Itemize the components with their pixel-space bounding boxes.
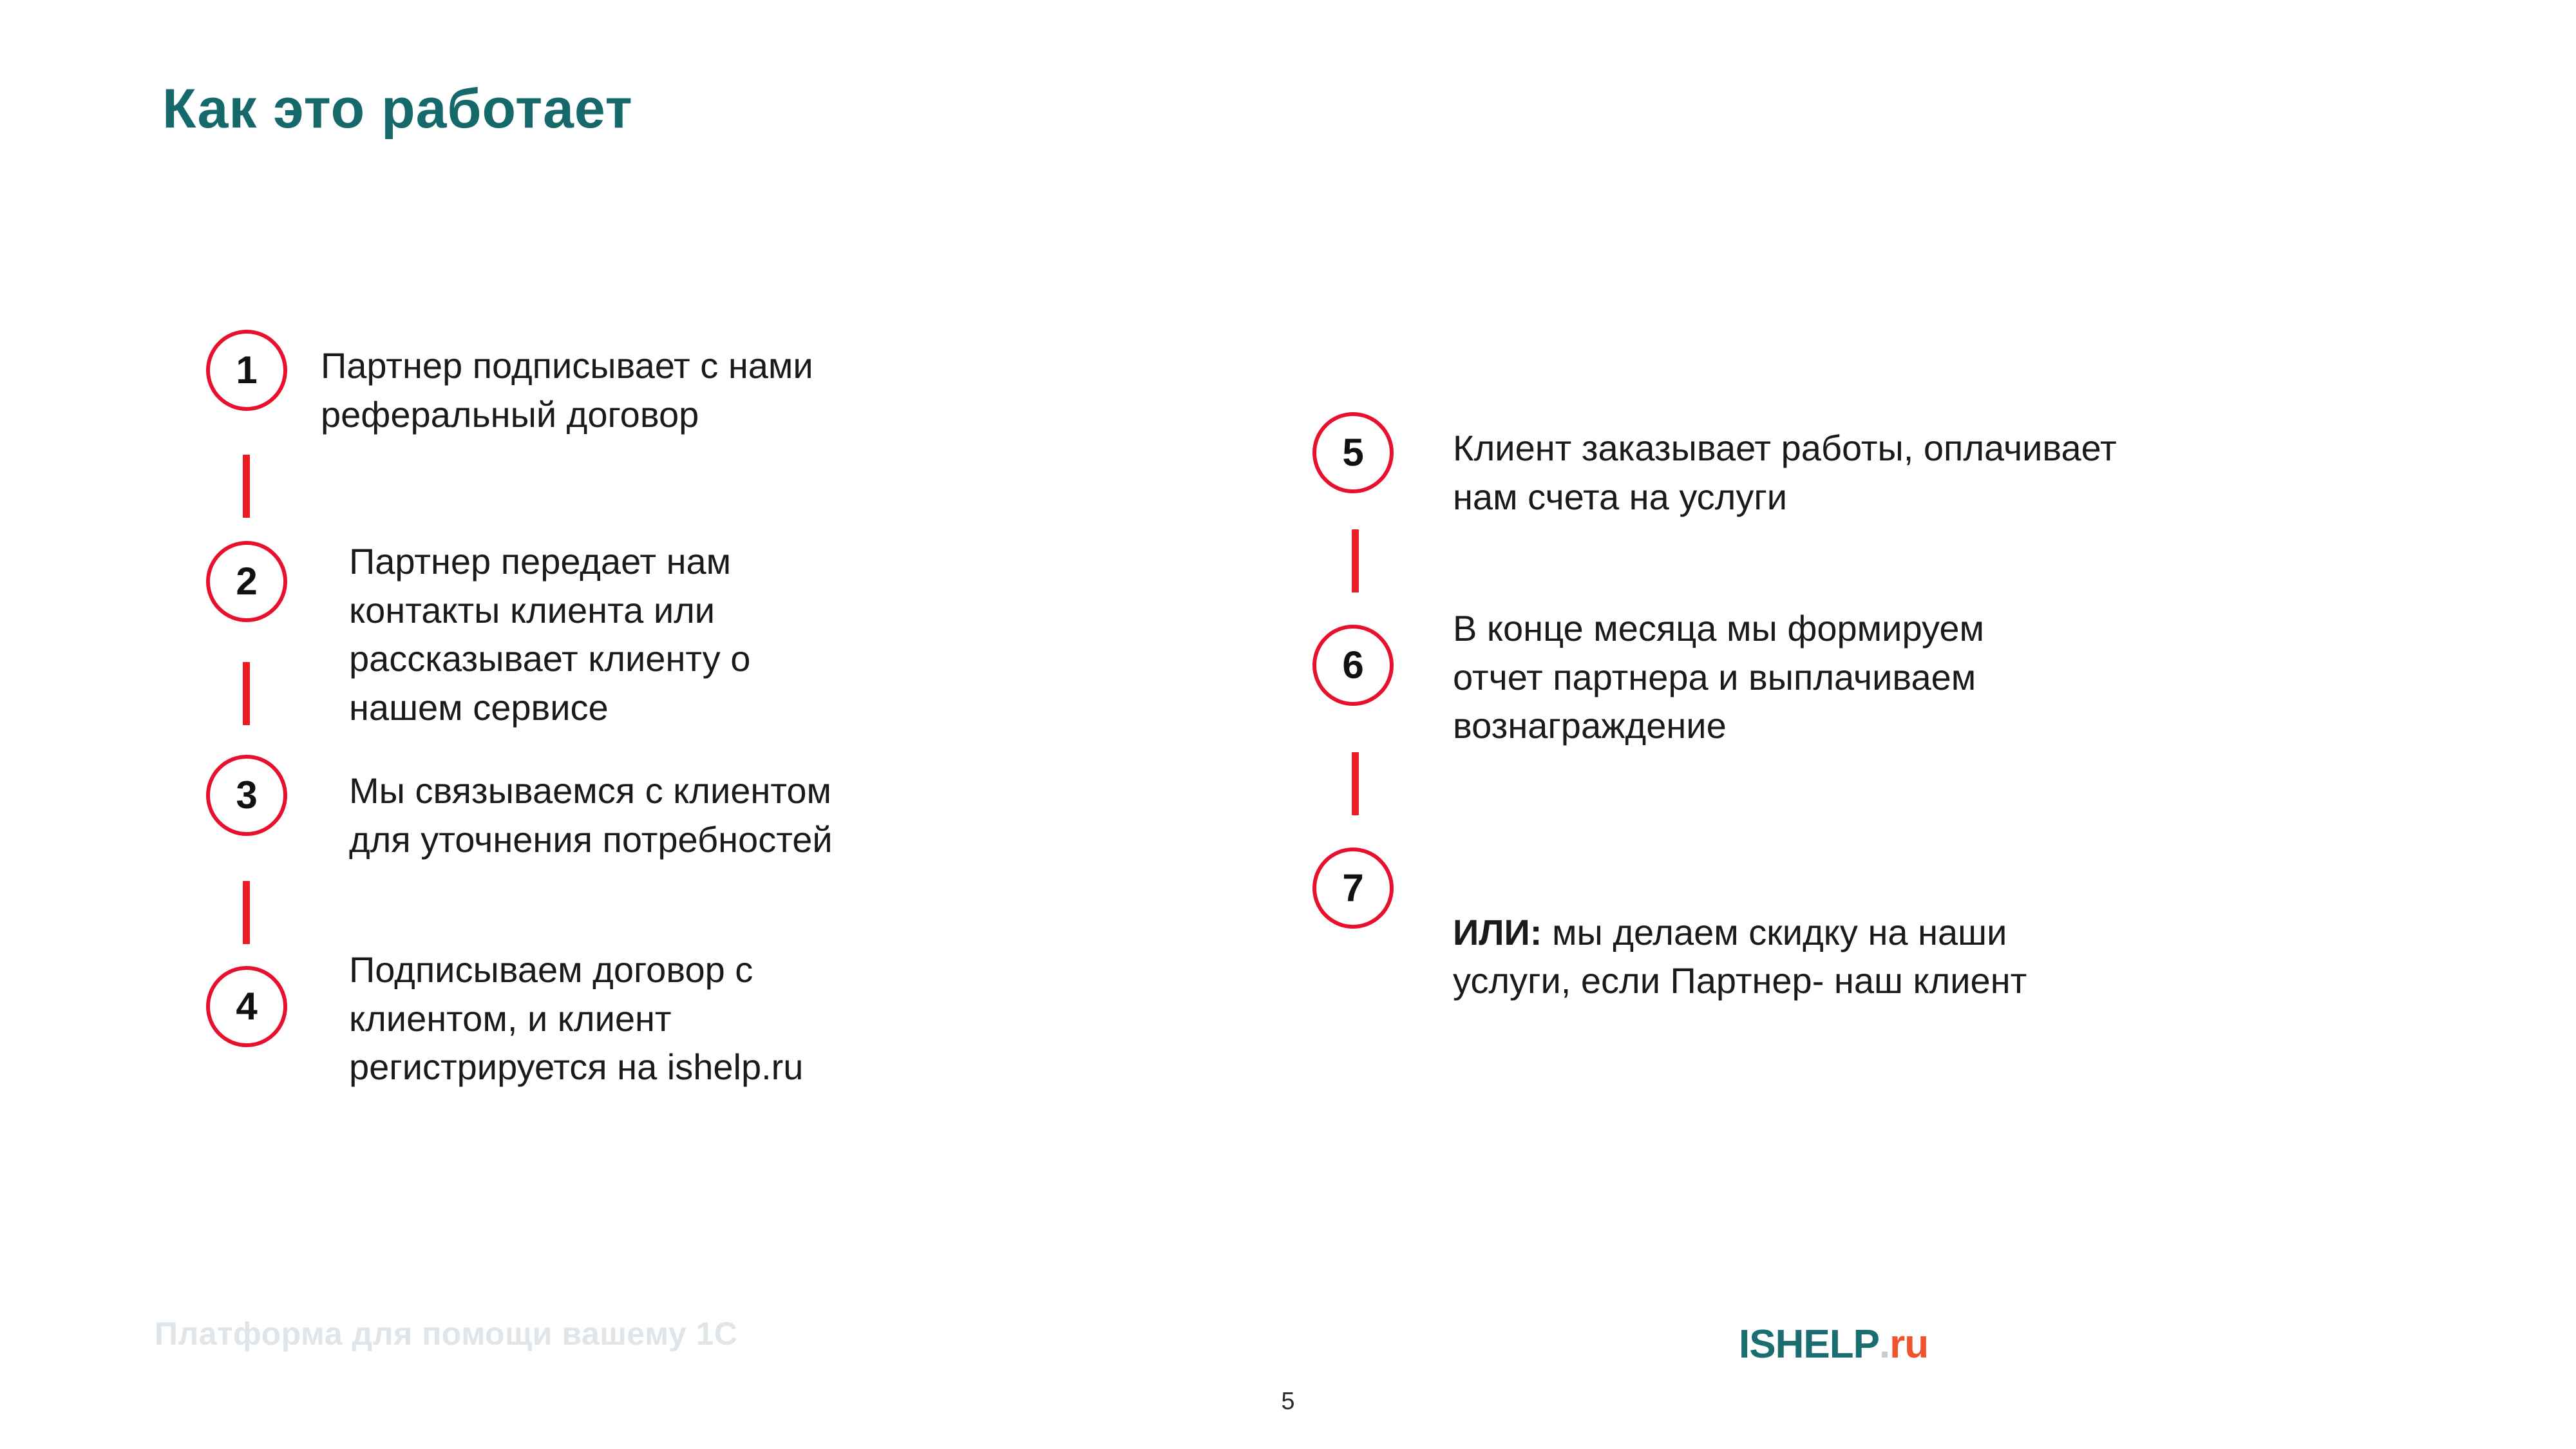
step-number-6: 6 <box>1342 646 1363 685</box>
step-text-6: В конце месяца мы формируем отчет партне… <box>1453 604 1984 750</box>
slide-root: Как это работает 1 Партнер подписывает с… <box>0 0 2576 1449</box>
step-number-7: 7 <box>1342 869 1363 907</box>
step-text-1: Партнер подписывает с нами реферальный д… <box>321 341 813 439</box>
step-badge-4: 4 <box>206 966 287 1047</box>
step-item-4: 4 Подписываем договор с клиентом, и клие… <box>206 966 803 1092</box>
step-text-4: Подписываем договор с клиентом, и клиент… <box>349 945 803 1092</box>
footer-tagline: Платформа для помощи вашему 1С <box>155 1315 738 1352</box>
connector-bar-3-4 <box>243 881 250 944</box>
logo-dot-icon: . <box>1879 1321 1889 1367</box>
step-badge-7: 7 <box>1312 848 1394 929</box>
connector-bar-6-7 <box>1352 752 1359 815</box>
step-number-2: 2 <box>236 562 257 601</box>
step-badge-3: 3 <box>206 755 287 836</box>
page-title: Как это работает <box>162 77 633 141</box>
step-item-5: 5 Клиент заказывает работы, оплачивает н… <box>1312 412 2117 521</box>
step-text-3: Мы связываемся с клиентом для уточнения … <box>349 766 833 864</box>
connector-bar-2-3 <box>243 662 250 725</box>
page-number: 5 <box>0 1388 2576 1416</box>
step-text-7-prefix: ИЛИ: <box>1453 912 1542 952</box>
logo-wordmark: ISHELP <box>1739 1321 1879 1367</box>
step-item-6: 6 В конце месяца мы формируем отчет парт… <box>1312 625 1984 750</box>
step-text-2: Партнер передает нам контакты клиента ил… <box>349 537 750 732</box>
step-badge-2: 2 <box>206 541 287 622</box>
step-item-1: 1 Партнер подписывает с нами реферальный… <box>206 330 813 439</box>
step-item-3: 3 Мы связываемся с клиентом для уточнени… <box>206 755 833 864</box>
step-badge-1: 1 <box>206 330 287 411</box>
step-item-2: 2 Партнер передает нам контакты клиента … <box>206 541 750 732</box>
step-badge-6: 6 <box>1312 625 1394 706</box>
connector-bar-5-6 <box>1352 529 1359 592</box>
step-text-7: ИЛИ: мы делаем скидку на наши услуги, ес… <box>1453 859 2027 1005</box>
step-text-5: Клиент заказывает работы, оплачивает нам… <box>1453 424 2117 521</box>
step-item-7: 7 ИЛИ: мы делаем скидку на наши услуги, … <box>1312 848 2027 1005</box>
logo-tld: ru <box>1889 1321 1928 1367</box>
step-number-4: 4 <box>236 987 257 1026</box>
step-number-1: 1 <box>236 351 257 390</box>
ishelp-logo: ISHELP.ru <box>1739 1321 1928 1367</box>
step-badge-5: 5 <box>1312 412 1394 493</box>
step-number-3: 3 <box>236 776 257 815</box>
step-number-5: 5 <box>1342 433 1363 472</box>
connector-bar-1-2 <box>243 455 250 518</box>
